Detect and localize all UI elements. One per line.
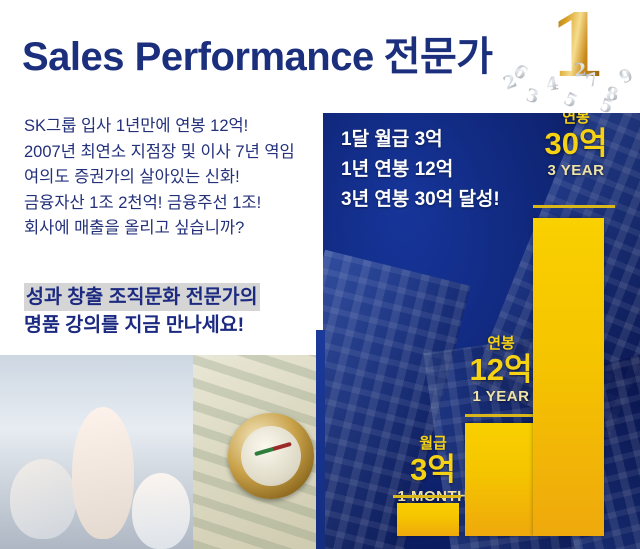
title-korean: 전문가 xyxy=(384,35,493,79)
compass-icon xyxy=(228,413,314,499)
number-one-graphic: 1 2 3 4 5 7 8 9 6 2 5 xyxy=(500,4,640,110)
banner-header: Sales Performance전문가 1 2 3 4 5 7 8 9 6 2… xyxy=(0,0,640,113)
panel-bullet: 3년 연봉 30억 달성! xyxy=(341,185,500,215)
copy-line: 금융자산 1조 2천억! 금융주선 1조! xyxy=(24,191,320,217)
cta-line: 명품 강의를 지금 만나세요! xyxy=(24,311,324,339)
panel-left-edge xyxy=(316,330,325,549)
cta-line-highlighted: 성과 창출 조직문화 전문가의 xyxy=(24,283,324,311)
bar-rule-1-month xyxy=(393,495,461,498)
copy-line: 2007년 최연소 지점장 및 이사 7년 역임 xyxy=(24,140,320,166)
bar-amount: 30억 xyxy=(521,127,631,161)
silver-digit-icon: 3 xyxy=(524,85,541,108)
cta-highlight-text: 성과 창출 조직문화 전문가의 xyxy=(24,283,260,311)
copy-line: SK그룹 입사 1년만에 연봉 12억! xyxy=(24,114,320,140)
bar-rule-3-year xyxy=(533,205,615,208)
copy-line: 회사에 매출을 올리고 싶습니까? xyxy=(24,216,320,242)
page-title: Sales Performance전문가 xyxy=(22,24,493,82)
panel-bullet-list: 1달 월급 3억 1년 연봉 12억 3년 연봉 30억 달성! xyxy=(341,125,500,215)
copy-line: 여의도 증권가의 살아있는 신화! xyxy=(24,165,320,191)
business-people-photo xyxy=(0,355,193,549)
person-figure xyxy=(72,407,134,539)
panel-bullet: 1년 연봉 12억 xyxy=(341,155,500,185)
bar-caption: 연봉 xyxy=(521,113,631,127)
promo-banner: Sales Performance전문가 1 2 3 4 5 7 8 9 6 2… xyxy=(0,0,640,549)
body-copy: SK그룹 입사 1년만에 연봉 12억! 2007년 최연소 지점장 및 이사 … xyxy=(24,114,320,242)
bar-1-year xyxy=(465,423,533,536)
bar-period: 3 YEAR xyxy=(521,161,631,180)
person-figure xyxy=(132,473,190,549)
bar-label-3-year: 연봉 30억 3 YEAR xyxy=(521,113,631,180)
title-english: Sales Performance xyxy=(22,35,374,79)
bar-1-month xyxy=(397,503,459,536)
bar-3-year xyxy=(533,218,604,536)
person-figure xyxy=(10,459,76,539)
photo-collage xyxy=(0,355,323,549)
chart-panel: 1달 월급 3억 1년 연봉 12억 3년 연봉 30억 달성! 연봉 30억 … xyxy=(323,113,640,549)
call-to-action: 성과 창출 조직문화 전문가의 명품 강의를 지금 만나세요! xyxy=(24,283,324,339)
silver-digit-icon: 2 xyxy=(573,59,588,81)
bar-rule-1-year xyxy=(465,414,537,417)
panel-bullet: 1달 월급 3억 xyxy=(341,125,500,155)
